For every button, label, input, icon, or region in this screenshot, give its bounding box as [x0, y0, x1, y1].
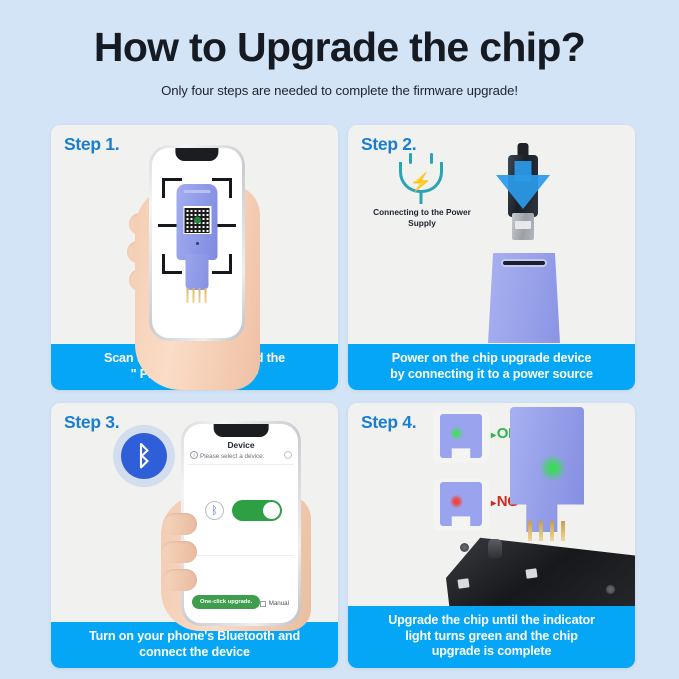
- chip-pins-icon: [187, 288, 208, 303]
- device-port-slot: [501, 259, 547, 267]
- led-red-icon: [450, 495, 463, 508]
- phone-device: [149, 145, 245, 341]
- bluetooth-small-icon: ᛒ: [205, 501, 224, 520]
- step-card-2: ⚡ Connecting to the Power Supply: [348, 125, 635, 390]
- bluetooth-glyph: ᛒ: [136, 443, 152, 470]
- power-plug-icon: ⚡: [393, 153, 449, 203]
- caption-line: light turns green and the chip: [362, 629, 621, 645]
- chip-pin: [539, 521, 543, 541]
- led-green-icon: [540, 455, 566, 481]
- step-caption-4: Upgrade the chip until the indicator lig…: [348, 606, 635, 668]
- infographic-page: How to Upgrade the chip? Only four steps…: [0, 0, 679, 679]
- cartridge-tab: [525, 568, 537, 578]
- down-arrow-head-icon: [496, 175, 550, 209]
- chip-slot: [184, 190, 211, 193]
- chip-pins-icon: [528, 521, 566, 541]
- triangle-marker-icon: ▸: [491, 498, 496, 509]
- step-label-2: Step 2.: [361, 134, 416, 155]
- chip-device-icon: [177, 184, 218, 304]
- usb-connector-icon: [506, 143, 540, 248]
- usb-metal-tip: [512, 213, 534, 240]
- finger-icon: [163, 569, 197, 591]
- page-subtitle: Only four steps are needed to complete t…: [0, 83, 679, 98]
- chip-pin: [199, 288, 201, 303]
- app-title: Device: [184, 440, 298, 450]
- app-subtitle: Please select a device.: [200, 453, 264, 460]
- caption-line: upgrade is complete: [362, 644, 621, 660]
- plug-cord: [420, 193, 423, 204]
- toggle-knob: [263, 502, 280, 519]
- annotation-line: Connecting to the: [373, 207, 444, 217]
- qr-code-icon: [183, 206, 211, 234]
- chip-pin: [205, 288, 207, 303]
- cartridge-screw: [606, 585, 615, 594]
- toggle-switch-icon[interactable]: [232, 500, 282, 521]
- phone-screen: [152, 148, 242, 338]
- device-panel: ᛒ: [188, 464, 294, 556]
- chip-pin: [193, 288, 195, 303]
- phone-device: Device i Please select a device. ᛒ One-c…: [181, 421, 301, 626]
- chip-neck: [186, 254, 209, 290]
- info-icon: i: [190, 451, 198, 459]
- chip-indicator-ng-icon: [433, 479, 489, 531]
- step-caption-2: Power on the chip upgrade device by conn…: [348, 344, 635, 390]
- step-card-1: Step 1. Scan the code to download the " …: [51, 125, 338, 390]
- step-card-3: ᛒ Device i Please select a device. ᛒ: [51, 403, 338, 668]
- phone-screen: Device i Please select a device. ᛒ One-c…: [184, 424, 298, 623]
- caption-line: by connecting it to a power source: [362, 367, 621, 383]
- steps-grid: Step 1. Scan the code to download the " …: [51, 125, 635, 669]
- page-title: How to Upgrade the chip?: [0, 26, 679, 69]
- qr-scan-frame-icon: [158, 162, 236, 320]
- chip-indicator-ok-icon: [433, 411, 489, 463]
- chip-pin: [187, 288, 189, 303]
- one-click-upgrade-button[interactable]: One-click upgrade.: [192, 595, 260, 609]
- finger-icon: [161, 541, 197, 563]
- usb-slot: [515, 221, 531, 229]
- page-header: How to Upgrade the chip? Only four steps…: [0, 0, 679, 98]
- cartridge-tab: [457, 578, 469, 588]
- caption-line: Power on the chip upgrade device: [362, 351, 621, 367]
- caption-line: connect the device: [65, 645, 324, 661]
- chip-pin: [561, 521, 565, 541]
- chip-led-icon: [196, 242, 199, 245]
- step-label-1: Step 1.: [64, 134, 119, 155]
- bluetooth-icon: ᛒ: [121, 433, 167, 479]
- chip-pin: [528, 521, 532, 541]
- power-supply-annotation: Connecting to the Power Supply: [366, 207, 478, 229]
- cartridge-screw: [460, 543, 469, 552]
- manual-checkbox[interactable]: [260, 601, 266, 607]
- step-label-4: Step 4.: [361, 412, 416, 433]
- chip-pin: [550, 521, 554, 541]
- phone-notch: [175, 148, 218, 161]
- qr-pattern: [185, 208, 210, 233]
- cartridge-knob: [488, 539, 502, 559]
- phone-notch: [214, 424, 269, 437]
- led-green-icon: [450, 427, 463, 440]
- finger-icon: [163, 513, 197, 535]
- lightning-bolt-icon: ⚡: [410, 173, 432, 191]
- step-label-3: Step 3.: [64, 412, 119, 433]
- qr-center-dot: [194, 217, 201, 224]
- step-card-4: ▸OK ▸NG: [348, 403, 635, 668]
- triangle-marker-icon: ▸: [491, 430, 496, 441]
- caption-line: Upgrade the chip until the indicator: [362, 613, 621, 629]
- menu-icon[interactable]: [284, 451, 292, 459]
- caption-line: Turn on your phone's Bluetooth and: [65, 629, 324, 645]
- manual-checkbox-group[interactable]: Manual: [260, 600, 289, 607]
- manual-label: Manual: [269, 600, 289, 607]
